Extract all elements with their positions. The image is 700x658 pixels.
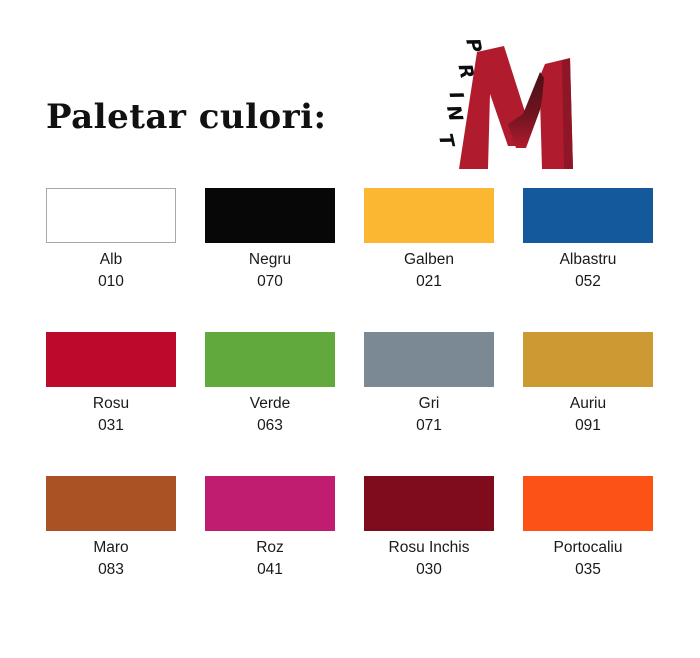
color-palette-grid: Alb010Negru070Galben021Albastru052Rosu03… <box>46 188 654 581</box>
swatch-caption: Alb010 <box>46 243 176 293</box>
swatch-caption: Verde063 <box>205 387 335 437</box>
swatch-code: 035 <box>523 559 653 581</box>
swatch-caption: Galben021 <box>364 243 494 293</box>
swatch-code: 063 <box>205 415 335 437</box>
swatch-chip[interactable] <box>523 332 653 387</box>
logo-m-icon <box>420 28 595 178</box>
swatch-name: Portocaliu <box>523 537 653 559</box>
palette-row: Alb010Negru070Galben021Albastru052 <box>46 188 654 293</box>
swatch-caption: Rosu031 <box>46 387 176 437</box>
swatch-chip[interactable] <box>523 476 653 531</box>
palette-row: Rosu031Verde063Gri071Auriu091 <box>46 332 654 437</box>
color-swatch-rosu[interactable]: Rosu031 <box>46 332 176 437</box>
swatch-name: Albastru <box>523 249 653 271</box>
swatch-name: Negru <box>205 249 335 271</box>
swatch-caption: Albastru052 <box>523 243 653 293</box>
swatch-name: Maro <box>46 537 176 559</box>
swatch-caption: Auriu091 <box>523 387 653 437</box>
swatch-code: 030 <box>364 559 494 581</box>
swatch-code: 010 <box>46 271 176 293</box>
swatch-code: 071 <box>364 415 494 437</box>
swatch-name: Roz <box>205 537 335 559</box>
swatch-name: Galben <box>364 249 494 271</box>
swatch-code: 083 <box>46 559 176 581</box>
color-swatch-maro[interactable]: Maro083 <box>46 476 176 581</box>
swatch-code: 021 <box>364 271 494 293</box>
swatch-caption: Rosu Inchis030 <box>364 531 494 581</box>
swatch-chip[interactable] <box>46 188 176 243</box>
swatch-name: Auriu <box>523 393 653 415</box>
color-swatch-alb[interactable]: Alb010 <box>46 188 176 293</box>
color-swatch-verde[interactable]: Verde063 <box>205 332 335 437</box>
logo-m-body <box>459 46 573 169</box>
palette-row: Maro083Roz041Rosu Inchis030Portocaliu035 <box>46 476 654 581</box>
color-swatch-gri[interactable]: Gri071 <box>364 332 494 437</box>
color-swatch-galben[interactable]: Galben021 <box>364 188 494 293</box>
brand-logo: P R I N T <box>420 28 595 178</box>
color-swatch-portocaliu[interactable]: Portocaliu035 <box>523 476 653 581</box>
swatch-name: Gri <box>364 393 494 415</box>
swatch-chip[interactable] <box>205 332 335 387</box>
color-swatch-rosu-inchis[interactable]: Rosu Inchis030 <box>364 476 494 581</box>
swatch-chip[interactable] <box>364 332 494 387</box>
swatch-code: 052 <box>523 271 653 293</box>
swatch-chip[interactable] <box>364 476 494 531</box>
swatch-chip[interactable] <box>364 188 494 243</box>
swatch-caption: Portocaliu035 <box>523 531 653 581</box>
swatch-caption: Negru070 <box>205 243 335 293</box>
swatch-name: Verde <box>205 393 335 415</box>
swatch-name: Rosu Inchis <box>364 537 494 559</box>
color-swatch-albastru[interactable]: Albastru052 <box>523 188 653 293</box>
header: Paletar culori: P R I N T <box>0 0 700 180</box>
page-title: Paletar culori: <box>46 97 327 137</box>
color-swatch-roz[interactable]: Roz041 <box>205 476 335 581</box>
swatch-code: 070 <box>205 271 335 293</box>
color-swatch-negru[interactable]: Negru070 <box>205 188 335 293</box>
swatch-caption: Roz041 <box>205 531 335 581</box>
swatch-code: 041 <box>205 559 335 581</box>
swatch-chip[interactable] <box>205 188 335 243</box>
swatch-chip[interactable] <box>523 188 653 243</box>
swatch-code: 091 <box>523 415 653 437</box>
swatch-caption: Maro083 <box>46 531 176 581</box>
swatch-chip[interactable] <box>205 476 335 531</box>
swatch-chip[interactable] <box>46 332 176 387</box>
swatch-name: Rosu <box>46 393 176 415</box>
color-swatch-auriu[interactable]: Auriu091 <box>523 332 653 437</box>
swatch-name: Alb <box>46 249 176 271</box>
swatch-chip[interactable] <box>46 476 176 531</box>
swatch-code: 031 <box>46 415 176 437</box>
swatch-caption: Gri071 <box>364 387 494 437</box>
